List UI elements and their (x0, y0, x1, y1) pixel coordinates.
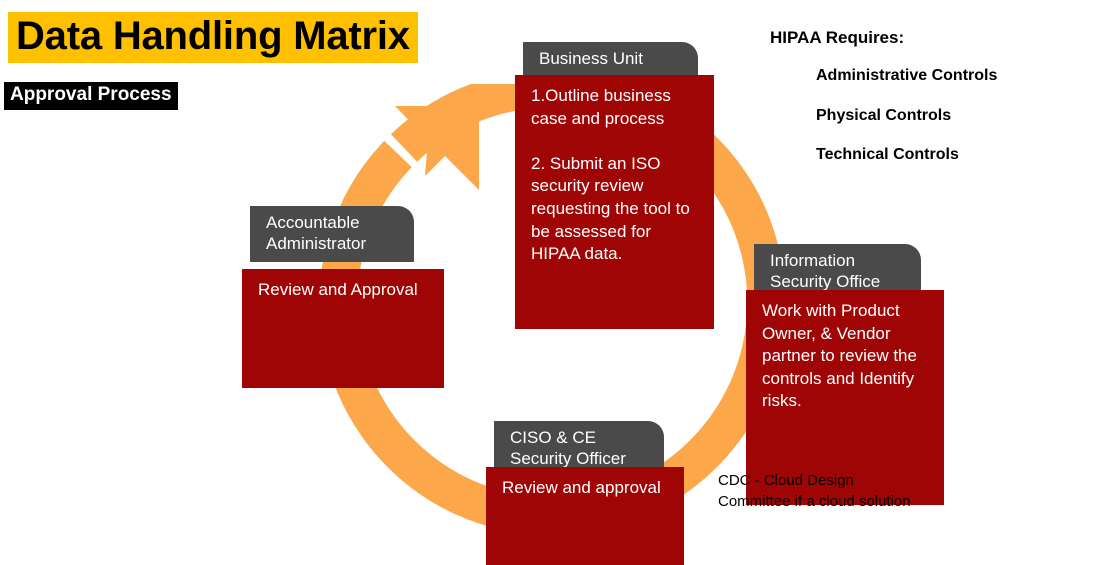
hipaa-requirements-block: HIPAA Requires: Administrative Controls … (770, 28, 997, 164)
card-business-unit-body: 1.Outline business case and process 2. S… (515, 75, 714, 329)
title-block: Data Handling Matrix (8, 12, 418, 63)
slide-canvas: Data Handling Matrix Approval Process Bu… (0, 0, 1094, 565)
hipaa-item-physical-controls: Physical Controls (816, 106, 997, 125)
hipaa-requirements-heading: HIPAA Requires: (770, 28, 997, 48)
cdc-caption: CDC - Cloud Design Committee if a cloud … (718, 470, 911, 512)
card-ciso-ce-security-officer-body: Review and approval (486, 467, 684, 565)
hipaa-item-technical-controls: Technical Controls (816, 145, 997, 164)
card-accountable-administrator-header: Accountable Administrator (250, 206, 414, 262)
hipaa-item-administrative-controls: Administrative Controls (816, 66, 997, 85)
page-title: Data Handling Matrix (8, 12, 418, 63)
card-business-unit-header: Business Unit (523, 42, 698, 76)
page-subtitle: Approval Process (4, 82, 178, 110)
subtitle-block: Approval Process (4, 82, 178, 110)
card-accountable-administrator-body: Review and Approval (242, 269, 444, 388)
